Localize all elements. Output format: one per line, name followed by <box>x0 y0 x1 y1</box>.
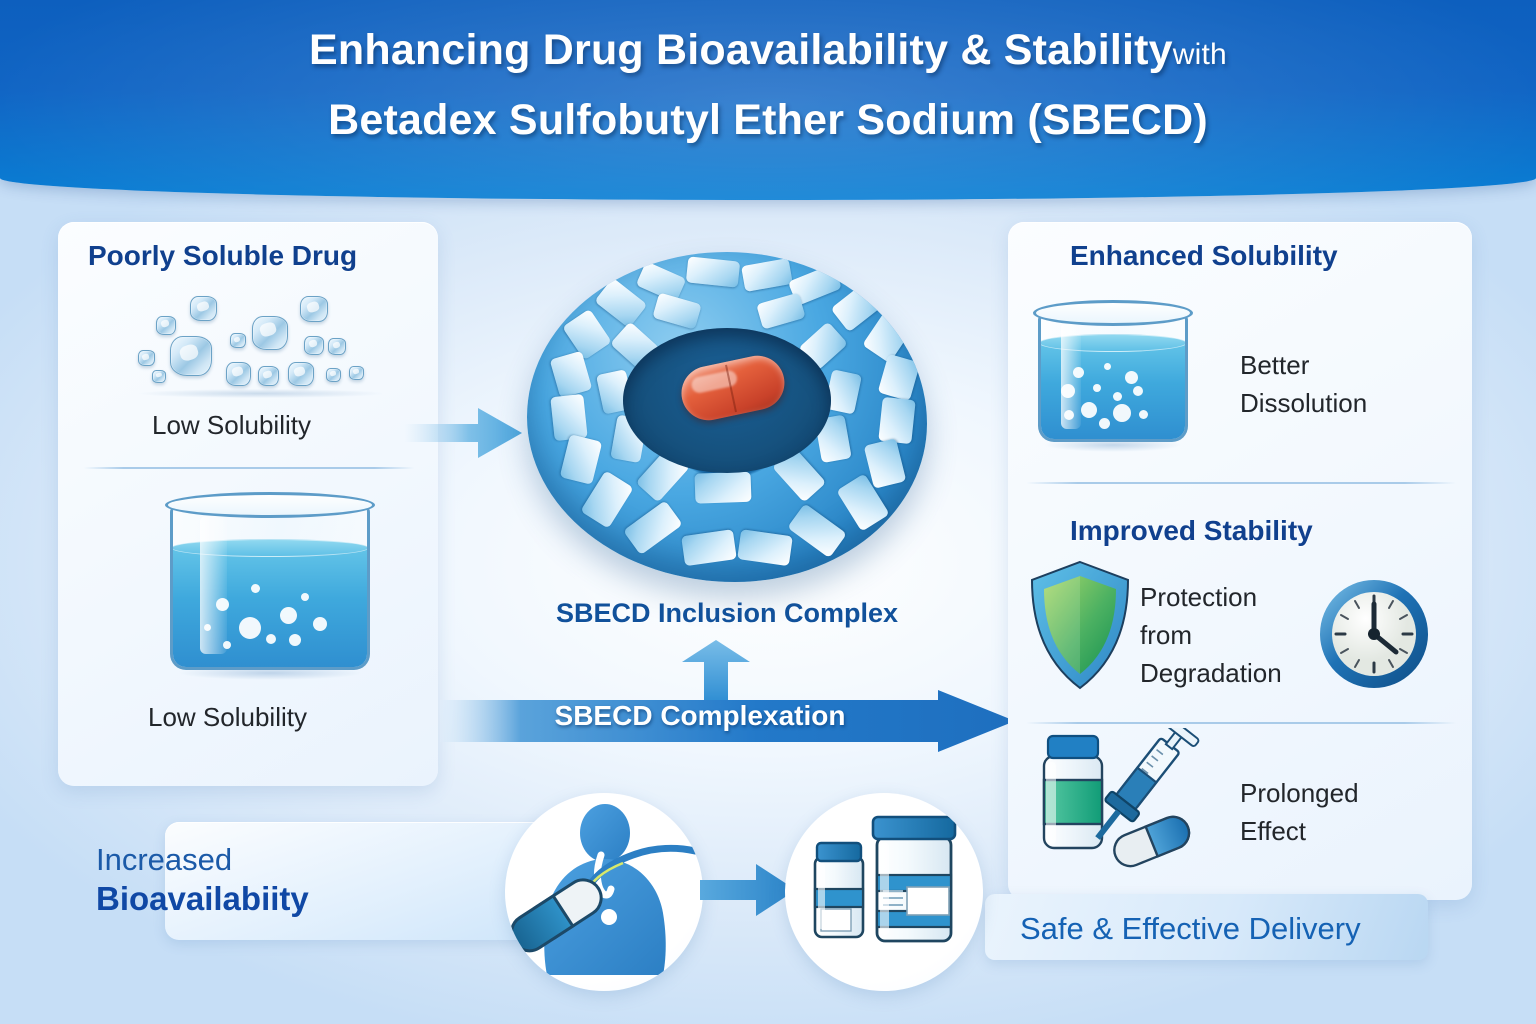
left-crystals-caption: Low Solubility <box>152 410 311 441</box>
page-title-main: Enhancing Drug Bioavailability & Stabili… <box>309 26 1173 74</box>
crystals-shadow <box>138 389 382 398</box>
infographic-canvas: Enhancing Drug Bioavailability & Stabili… <box>0 0 1536 1024</box>
page-title-line-1: Enhancing Drug Bioavailability & Stabili… <box>0 26 1536 75</box>
left-panel-divider <box>84 467 414 469</box>
improved-stability-heading: Improved Stability <box>1070 515 1313 547</box>
medicine-vials-icon <box>785 793 983 991</box>
left-panel-heading: Poorly Soluble Drug <box>88 240 357 272</box>
enhanced-solubility-beaker-icon <box>1038 300 1188 442</box>
page-title-with: with <box>1173 38 1227 71</box>
shield-icon <box>1028 560 1132 690</box>
right-panel-divider-1 <box>1026 482 1456 484</box>
sbecd-inclusion-complex-icon <box>527 252 927 582</box>
better-dissolution-caption-line2: Dissolution <box>1240 388 1367 419</box>
patient-with-capsule-icon <box>505 793 703 991</box>
cyclodextrin-ring <box>527 252 927 582</box>
complexation-label: SBECD Complexation <box>440 700 960 732</box>
protection-caption-line2: from <box>1140 620 1192 651</box>
safe-effective-delivery-label: Safe & Effective Delivery <box>1020 911 1361 947</box>
arrow-to-complex <box>404 404 524 462</box>
right-panel-divider-2 <box>1026 722 1456 724</box>
prolonged-effect-caption-line2: Effect <box>1240 816 1306 847</box>
prolonged-effect-caption-line1: Prolonged <box>1240 778 1359 809</box>
low-solubility-beaker-icon <box>170 492 370 670</box>
better-dissolution-caption-line1: Better <box>1240 350 1309 381</box>
clock-icon <box>1318 578 1430 690</box>
protection-caption-line1: Protection <box>1140 582 1257 613</box>
bioavailability-line1: Increased <box>96 842 232 878</box>
bottom-flow-arrow <box>700 862 796 918</box>
vial-syringe-capsule-icon <box>1030 728 1220 868</box>
left-beaker-caption: Low Solubility <box>148 702 307 733</box>
bioavailability-line2: Bioavailabiity <box>96 880 309 918</box>
protection-caption-line3: Degradation <box>1140 658 1282 689</box>
header-banner: Enhancing Drug Bioavailability & Stabili… <box>0 0 1536 200</box>
enhanced-solubility-heading: Enhanced Solubility <box>1070 240 1338 272</box>
complex-label: SBECD Inclusion Complex <box>527 598 927 629</box>
page-title-line-2: Betadex Sulfobutyl Ether Sodium (SBECD) <box>0 96 1536 145</box>
drug-crystals-icon <box>130 288 390 400</box>
